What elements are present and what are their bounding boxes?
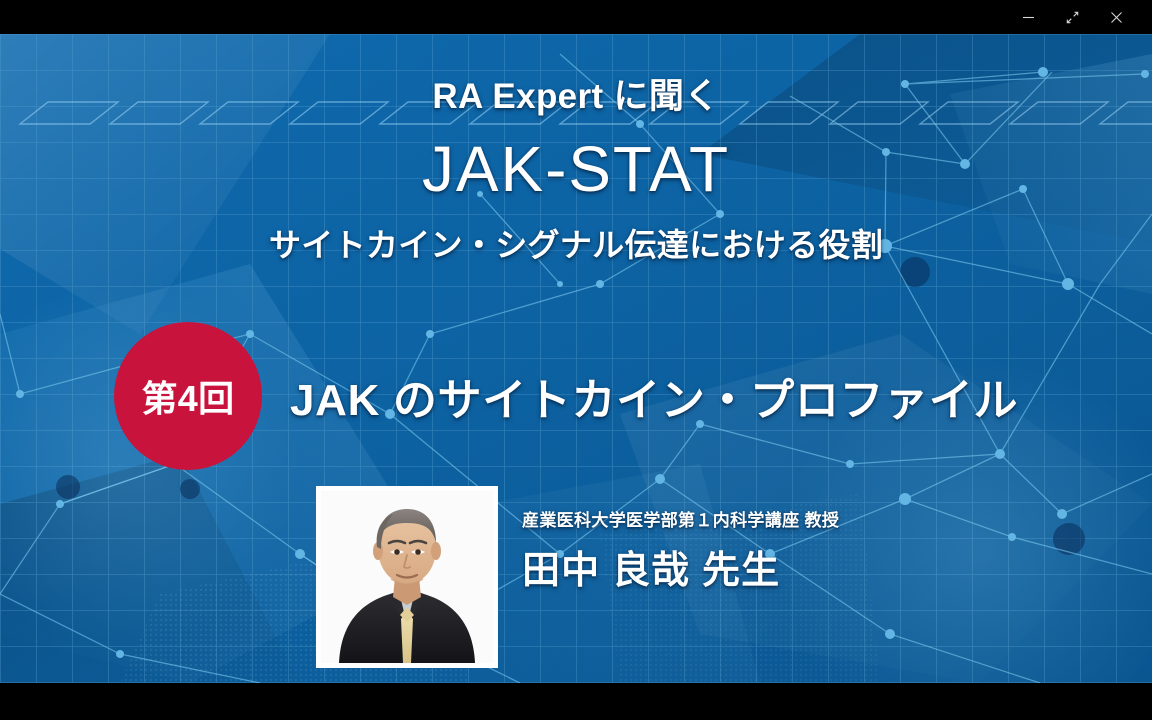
minimize-button[interactable] [1006,0,1050,34]
speaker-portrait-photo [321,491,493,663]
player-bottom-letterbox [0,683,1152,720]
slide-content-layer: RA Expert に聞く JAK-STAT サイトカイン・シグナル伝達における… [0,34,1152,683]
episode-number-badge: 第4回 [114,322,262,470]
video-viewport[interactable]: RA Expert に聞く JAK-STAT サイトカイン・シグナル伝達における… [0,34,1152,683]
episode-number-label: 第4回 [141,370,234,422]
speaker-name: 田中 良哉 先生 [522,539,780,594]
slide-kicker: RA Expert に聞く [0,68,1152,119]
slide-subtitle: サイトカイン・シグナル伝達における役割 [0,220,1152,266]
slide-brand-title: JAK-STAT [0,132,1152,206]
exit-fullscreen-button[interactable] [1050,0,1094,34]
speaker-portrait-frame [316,486,498,668]
slide-headline: JAK のサイトカイン・プロファイル [290,330,1080,462]
video-player-window: RA Expert に聞く JAK-STAT サイトカイン・シグナル伝達における… [0,0,1152,720]
speaker-affiliation: 産業医科大学医学部第１内科学講座 教授 [522,506,839,531]
close-button[interactable] [1094,0,1138,34]
window-titlebar [0,0,1152,34]
